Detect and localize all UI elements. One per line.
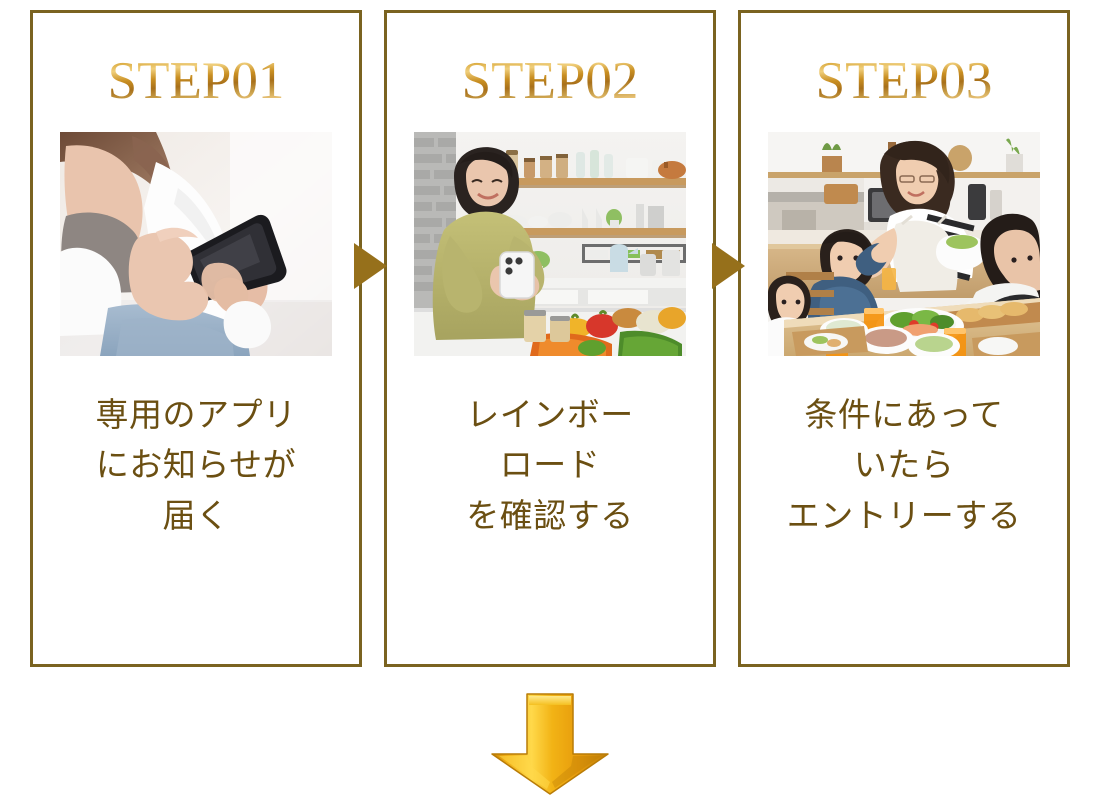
caption-line: エントリーする	[787, 491, 1022, 541]
woman-in-kitchen-photo	[414, 132, 686, 356]
woman-using-smartphone-photo	[60, 132, 332, 356]
caption-line: にお知らせが	[96, 440, 297, 490]
step-title-3: STEP03	[816, 55, 993, 108]
steps-row: STEP01	[30, 10, 1070, 667]
right-arrow-icon-1	[354, 243, 387, 289]
caption-line: 条件にあって	[787, 390, 1022, 440]
caption-line: レインボー	[466, 390, 634, 440]
caption-line: 専用のアプリ	[96, 390, 297, 440]
step-panel-3: STEP03	[738, 10, 1070, 667]
step-title-2: STEP02	[462, 55, 639, 108]
down-arrow-icon	[489, 692, 611, 796]
caption-line: 届く	[96, 491, 297, 541]
step-title-1: STEP01	[108, 55, 285, 108]
step-panel-2: STEP02	[384, 10, 716, 667]
step-caption-2: レインボー ロード を確認する	[466, 390, 634, 541]
caption-line: いたら	[787, 440, 1022, 490]
step-flow-diagram: STEP01	[0, 0, 1100, 801]
step-panel-1: STEP01	[30, 10, 362, 667]
caption-line: を確認する	[466, 491, 634, 541]
step-caption-3: 条件にあって いたら エントリーする	[787, 390, 1022, 541]
right-arrow-icon-2	[712, 243, 745, 289]
caption-line: ロード	[466, 440, 634, 490]
step-caption-1: 専用のアプリ にお知らせが 届く	[96, 390, 297, 541]
family-dining-photo	[768, 132, 1040, 356]
